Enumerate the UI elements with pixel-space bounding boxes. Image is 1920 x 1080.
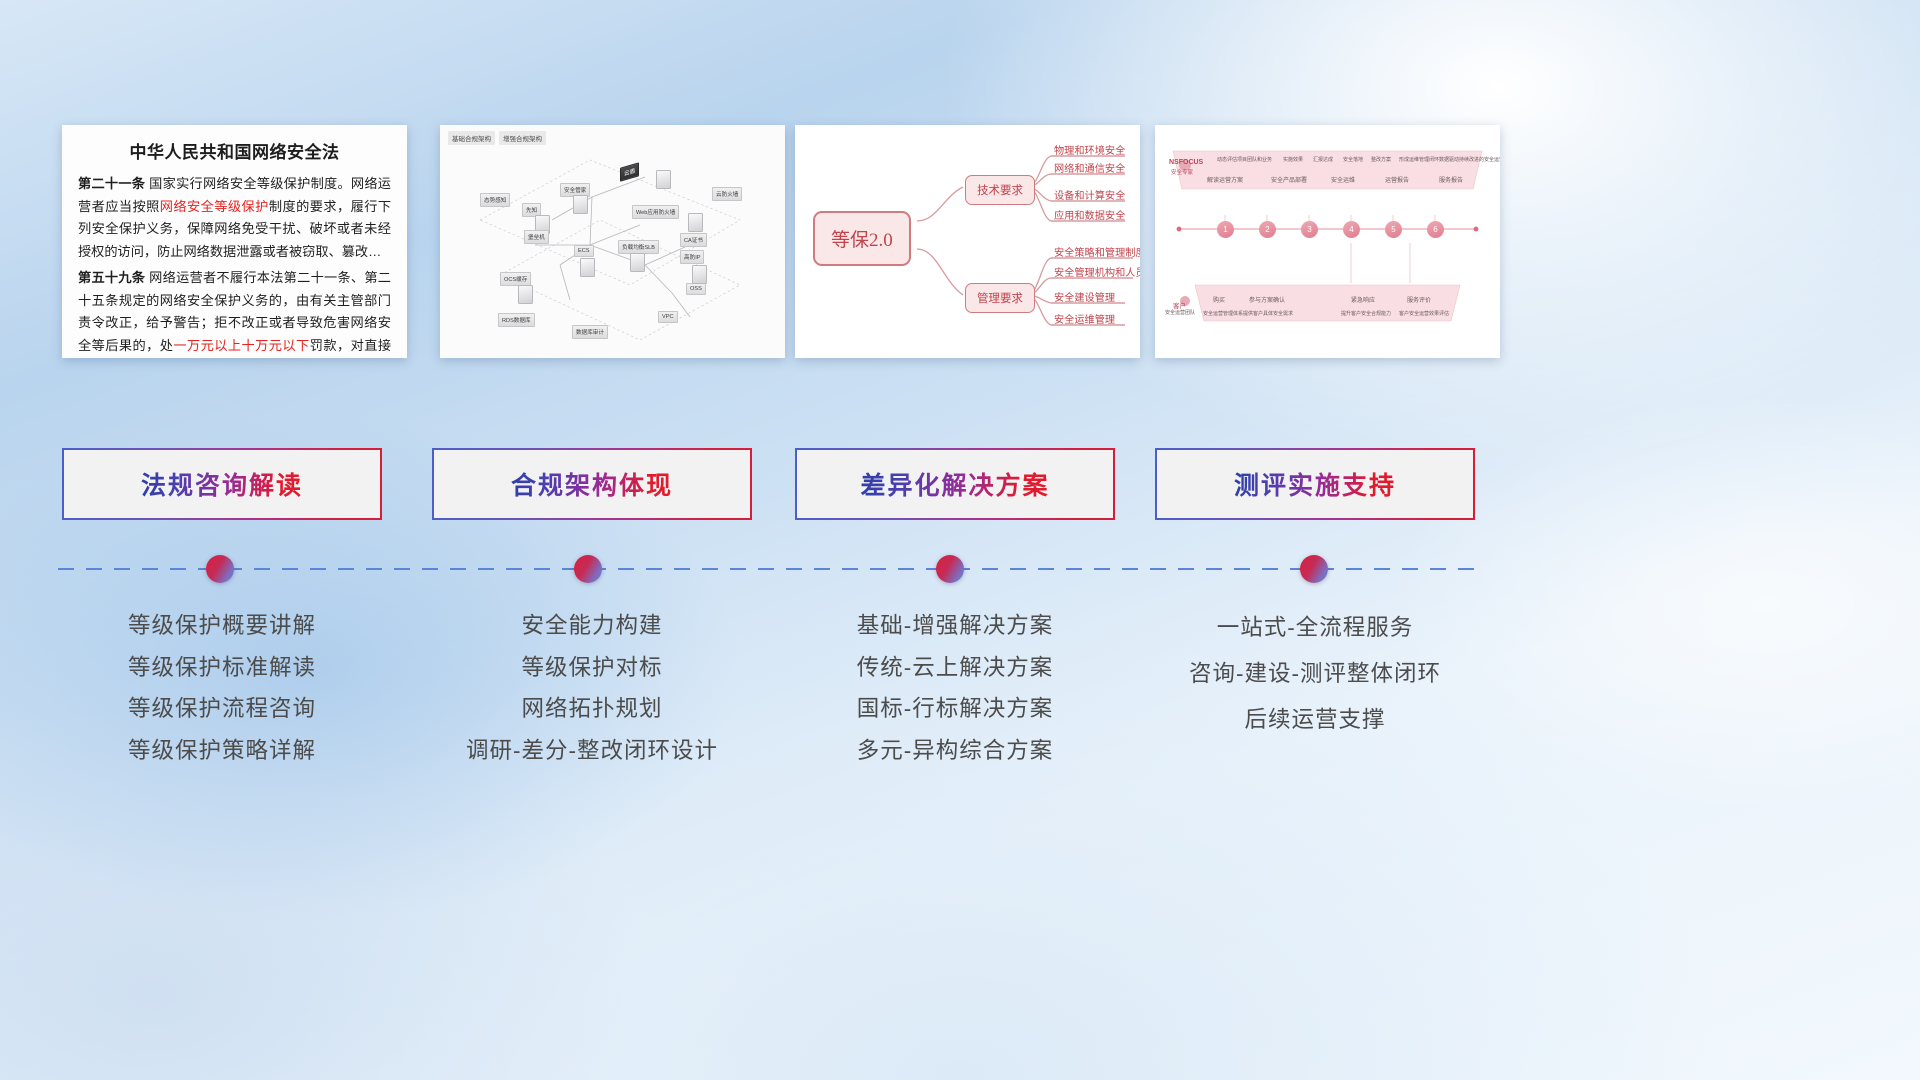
mindmap-root-node: 等保2.0 [813, 211, 911, 266]
timeline-dot-3[interactable] [936, 555, 964, 583]
nsfocus-image-card: NSFOCUS 安全专家 动态评估项目团队和业务 实施效果 汇报达成 安全落地 … [1155, 125, 1500, 358]
arch-icon-oss [692, 265, 707, 284]
arch-node-db-audit: 数据库审计 [572, 325, 608, 339]
nsfocus-timeline-diagram: NSFOCUS 安全专家 动态评估项目团队和业务 实施效果 汇报达成 安全落地 … [1155, 125, 1500, 358]
mindmap-leaf-device-compute: 设备和计算安全 [1054, 187, 1125, 202]
arch-icon-ecs [580, 258, 595, 277]
arch-icon-ocs [518, 285, 533, 304]
nsfocus-bottom-2: 紧急响应 [1351, 295, 1375, 304]
timeline-dashed-line [58, 568, 1478, 570]
list-item: 传统-云上解决方案 [795, 647, 1115, 689]
nsfocus-stage-3: 运营报告 [1385, 175, 1409, 184]
nsfocus-step-3: 3 [1301, 221, 1318, 238]
nsfocus-top-label-2: 汇报达成 [1313, 156, 1333, 163]
list-item: 等级保护标准解读 [62, 647, 382, 689]
nsfocus-stage-2: 安全运维 [1331, 175, 1355, 184]
nsfocus-bottom-0: 购买 [1213, 295, 1225, 304]
nsfocus-step-4: 4 [1343, 221, 1360, 238]
nsfocus-bottom-1: 参与方案确认 [1249, 295, 1285, 304]
arch-node-situation-awareness: 态势感知 [480, 193, 510, 207]
architecture-connectors [440, 125, 785, 358]
arch-icon-server-1 [573, 195, 588, 214]
arch-node-oss: OSS [686, 283, 706, 295]
law-article-59-highlight-1: 一万元以上十万元以下 [173, 338, 309, 353]
mindmap-leaf-app-data: 应用和数据安全 [1054, 207, 1125, 222]
nsfocus-top-label-1: 实施效果 [1283, 156, 1303, 163]
list-item: 后续运营支撑 [1145, 697, 1485, 743]
section-title-label-1: 法规咨询解读 [141, 466, 303, 502]
timeline-dot-4[interactable] [1300, 555, 1328, 583]
nsfocus-bottom-sub-1: 提供客户具体安全需求 [1243, 310, 1293, 317]
nsfocus-top-label-0: 动态评估项目团队和业务 [1217, 156, 1272, 163]
nsfocus-top-label-4: 整改方案 [1371, 156, 1391, 163]
arch-node-ecs: ECS [574, 245, 594, 257]
arch-node-ocs: OCS缓存 [500, 272, 531, 286]
nsfocus-top-label-6: 数据驱动持续改进的安全运营体系 [1439, 156, 1500, 163]
nsfocus-step-1: 1 [1217, 221, 1234, 238]
architecture-image-card: 基础合规架构 增强合规架构 云盾 安全管家 [440, 125, 785, 358]
law-article-59: 第五十九条 网络运营者不履行本法第二十一条、第二十五条规定的网络安全保护义务的，… [78, 267, 391, 358]
list-item: 等级保护流程咨询 [62, 688, 382, 730]
arch-node-slb: 负载均衡SLB [618, 240, 659, 254]
nsfocus-customer-sub: 安全运营团队 [1165, 309, 1195, 316]
law-article-21: 第二十一条 国家实行网络安全等级保护制度。网络运营者应当按照网络安全等级保护制度… [78, 173, 391, 264]
list-item: 咨询-建设-测评整体闭环 [1145, 651, 1485, 697]
law-article-21-highlight: 网络安全等级保护 [160, 199, 269, 214]
list-item: 安全能力构建 [432, 605, 752, 647]
section-title-box-1[interactable]: 法规咨询解读 [62, 448, 382, 520]
section-list-4: 一站式-全流程服务 咨询-建设-测评整体闭环 后续运营支撑 [1145, 605, 1485, 743]
nsfocus-stage-0: 解读运营方案 [1207, 175, 1243, 184]
mindmap-branch-management: 管理要求 [965, 283, 1035, 313]
mindmap-leaf-ops-mgmt: 安全运维管理 [1054, 311, 1115, 326]
mindmap-leaf-org-personnel: 安全管理机构和人员 [1054, 264, 1140, 279]
timeline-dot-1[interactable] [206, 555, 234, 583]
nsfocus-brand: NSFOCUS [1169, 159, 1203, 166]
arch-icon-ca [688, 213, 703, 232]
arch-icon-slb [630, 253, 645, 272]
nsfocus-top-label-3: 安全落地 [1343, 156, 1363, 163]
timeline-dot-2[interactable] [574, 555, 602, 583]
section-title-box-4[interactable]: 测评实施支持 [1155, 448, 1475, 520]
mindmap-leaf-construction-mgmt: 安全建设管理 [1054, 289, 1115, 304]
arch-node-rds: RDS数据库 [498, 313, 535, 327]
section-list-3: 基础-增强解决方案 传统-云上解决方案 国标-行标解决方案 多元-异构综合方案 [795, 605, 1115, 772]
mindmap-leaf-policy-system: 安全策略和管理制度 [1054, 244, 1140, 259]
section-title-label-3: 差异化解决方案 [860, 466, 1049, 502]
nsfocus-bottom-sub-3: 客户安全运营效果评估 [1399, 310, 1449, 317]
section-title-label-2: 合规架构体现 [511, 466, 673, 502]
section-list-2: 安全能力构建 等级保护对标 网络拓扑规划 调研-差分-整改闭环设计 [432, 605, 752, 772]
image-card-row: 中华人民共和国网络安全法 第二十一条 国家实行网络安全等级保护制度。网络运营者应… [0, 125, 1920, 360]
law-text-block: 中华人民共和国网络安全法 第二十一条 国家实行网络安全等级保护制度。网络运营者应… [62, 125, 407, 358]
law-image-card: 中华人民共和国网络安全法 第二十一条 国家实行网络安全等级保护制度。网络运营者应… [62, 125, 407, 358]
list-item: 多元-异构综合方案 [795, 730, 1115, 772]
nsfocus-step-6: 6 [1427, 221, 1444, 238]
section-title-box-3[interactable]: 差异化解决方案 [795, 448, 1115, 520]
nsfocus-stage-1: 安全产品部署 [1271, 175, 1307, 184]
nsfocus-step-2: 2 [1259, 221, 1276, 238]
arch-node-ca: CA证书 [680, 233, 707, 247]
list-item: 等级保护概要讲解 [62, 605, 382, 647]
arch-icon-waf [656, 170, 671, 189]
nsfocus-top-label-5: 形成运维管理闭环 [1399, 156, 1439, 163]
nsfocus-bottom-sub-0: 安全运营管理体系 [1203, 310, 1243, 317]
law-title: 中华人民共和国网络安全法 [78, 138, 391, 163]
nsfocus-stage-4: 服务报告 [1439, 175, 1463, 184]
list-item: 调研-差分-整改闭环设计 [432, 730, 752, 772]
list-item: 基础-增强解决方案 [795, 605, 1115, 647]
section-title-label-4: 测评实施支持 [1234, 466, 1396, 502]
list-item: 等级保护对标 [432, 647, 752, 689]
arch-node-vpc: VPC [658, 311, 678, 323]
mindmap-branch-technical: 技术要求 [965, 175, 1035, 205]
mindmap-leaf-physical-env: 物理和环境安全 [1054, 142, 1125, 157]
section-title-box-2[interactable]: 合规架构体现 [432, 448, 752, 520]
law-article-59-label: 第五十九条 [78, 270, 145, 285]
mindmap-leaf-network-comm: 网络和通信安全 [1054, 160, 1125, 175]
section-title-row: 法规咨询解读 合规架构体现 差异化解决方案 测评实施支持 [0, 448, 1920, 520]
arch-node-cloud-firewall: 云防火墙 [712, 187, 742, 201]
section-list-1: 等级保护概要讲解 等级保护标准解读 等级保护流程咨询 等级保护策略详解 [62, 605, 382, 772]
arch-node-waf: Web应用防火墙 [632, 205, 679, 219]
list-item: 等级保护策略详解 [62, 730, 382, 772]
mindmap-image-card: 等保2.0 技术要求 管理要求 物理和环境安全 网络和通信安全 设备和计算安全 … [795, 125, 1140, 358]
arch-node-bastion: 堡垒机 [524, 230, 549, 244]
nsfocus-bottom-3: 服务评价 [1407, 295, 1431, 304]
nsfocus-step-5: 5 [1385, 221, 1402, 238]
architecture-diagram: 基础合规架构 增强合规架构 云盾 安全管家 [440, 125, 785, 358]
mindmap-diagram: 等保2.0 技术要求 管理要求 物理和环境安全 网络和通信安全 设备和计算安全 … [795, 125, 1140, 358]
nsfocus-bottom-sub-2: 提升客户安全合规能力 [1341, 310, 1391, 317]
list-item: 网络拓扑规划 [432, 688, 752, 730]
arch-node-gaofang-ip: 高防IP [680, 250, 704, 264]
nsfocus-brand-sub: 安全专家 [1171, 168, 1193, 176]
law-article-21-label: 第二十一条 [78, 176, 145, 191]
list-item: 国标-行标解决方案 [795, 688, 1115, 730]
list-item: 一站式-全流程服务 [1145, 605, 1485, 651]
